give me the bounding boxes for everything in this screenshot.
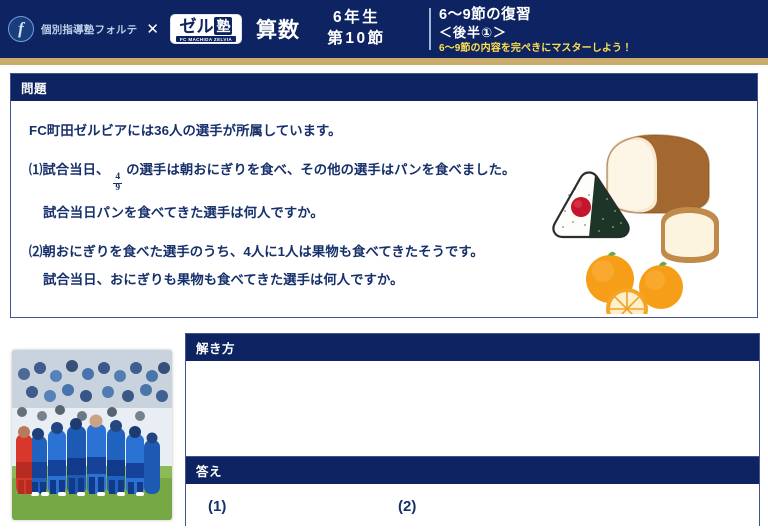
zeljuku-char-ru: ル <box>196 18 212 35</box>
fraction-numerator: 4 <box>113 173 122 183</box>
fraction-four-ninths: 49 <box>113 173 122 194</box>
topic-banner: 6〜9節の復習 ＜後半①＞ 6〜9節の内容を完ぺきにマスターしよう！ <box>431 0 768 58</box>
forte-logo-icon: f <box>8 16 34 42</box>
forte-monogram: f <box>18 20 24 37</box>
session-label: 第10節 <box>327 29 385 50</box>
gold-divider-bar <box>0 58 768 65</box>
problem-panel: 問題 FC町田ゼルビアには36人の選手が所属しています。 ⑴試合当日、49の選手… <box>10 73 758 318</box>
zelvia-club-name: FC MACHIDA ZELVIA <box>176 36 236 42</box>
bread-loaf-icon <box>607 135 709 213</box>
grade-label: 6年生 <box>333 8 380 29</box>
question-1-prefix: ⑴試合当日、 <box>29 162 109 177</box>
topic-subtitle: ＜後半①＞ <box>439 25 768 42</box>
question-1-suffix: の選手は朝おにぎりを食べ、その他の選手はパンを食べました。 <box>126 162 515 177</box>
grade-and-session: 6年生 第10節 <box>300 0 429 58</box>
team-photo <box>12 350 172 520</box>
subject-title: 算数 <box>256 14 300 44</box>
fraction-denominator: 9 <box>113 184 122 194</box>
zeljuku-logo-main: ゼ ル 塾 <box>179 17 232 35</box>
topic-title: 6〜9節の復習 <box>439 6 768 24</box>
solution-section-header: 解き方 <box>186 334 759 361</box>
problem-section-header: 問題 <box>11 74 757 101</box>
solution-writing-area[interactable] <box>186 361 759 456</box>
bread-slice-icon <box>661 207 719 263</box>
topic-tagline: 6〜9節の内容を完ぺきにマスターしよう！ <box>439 42 768 55</box>
header-branding: f 個別指導塾フォルテ ✕ ゼ ル 塾 FC MACHIDA ZELVIA 算数 <box>0 0 300 58</box>
answer-slot-2-label: (2) <box>398 498 416 515</box>
answer-writing-area[interactable]: (1) (2) <box>186 484 759 528</box>
page-header: f 個別指導塾フォルテ ✕ ゼ ル 塾 FC MACHIDA ZELVIA 算数… <box>0 0 768 58</box>
zeljuku-logo: ゼ ル 塾 FC MACHIDA ZELVIA <box>170 14 242 44</box>
answer-slot-1-label: (1) <box>208 498 398 515</box>
answer-section-header: 答え <box>186 456 759 484</box>
zeljuku-char-ze: ゼ <box>179 18 195 35</box>
food-illustration-group <box>551 119 751 314</box>
collaboration-cross-icon: ✕ <box>146 20 159 38</box>
problem-body: FC町田ゼルビアには36人の選手が所属しています。 ⑴試合当日、49の選手は朝お… <box>11 101 757 317</box>
forte-brand-name: 個別指導塾フォルテ <box>41 22 137 37</box>
orange-icon <box>586 252 683 314</box>
zeljuku-char-juku: 塾 <box>214 17 232 35</box>
work-panel: 解き方 答え (1) (2) <box>185 333 760 526</box>
team-photo-image <box>12 350 172 520</box>
